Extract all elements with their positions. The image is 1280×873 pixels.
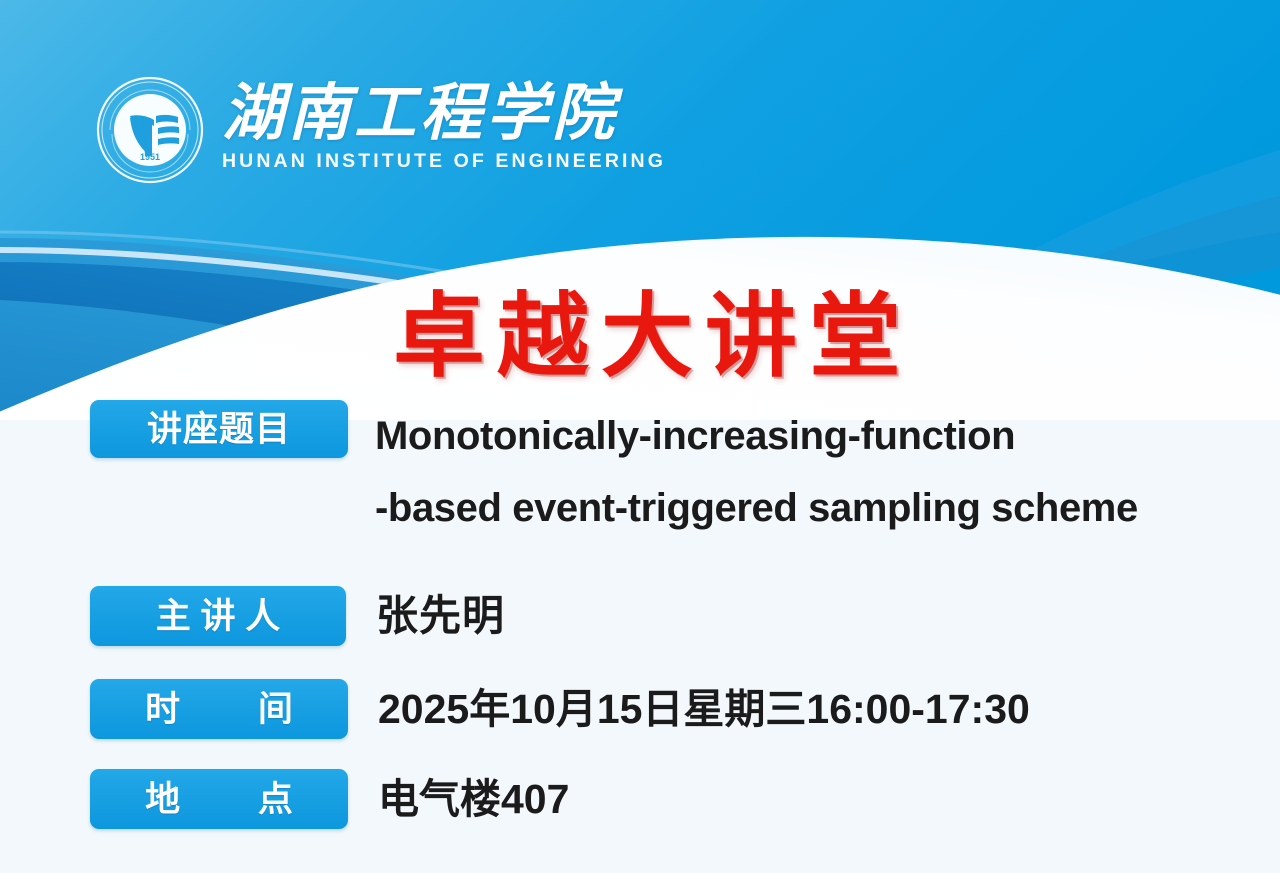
lecture-title-line2: -based event-triggered sampling scheme <box>375 472 1138 544</box>
university-logo-block: 1951 湖南工程学院 HUNAN INSTITUTE OF ENGINEERI… <box>96 76 666 184</box>
place-value: 电气楼407 <box>378 769 569 829</box>
row-place: 地 点 电气楼407 <box>90 769 569 829</box>
university-name-en: HUNAN INSTITUTE OF ENGINEERING <box>222 150 666 173</box>
badge-place: 地 点 <box>90 769 348 829</box>
badge-lecture-title: 讲座题目 <box>90 400 348 458</box>
badge-speaker: 主 讲 人 <box>90 586 346 646</box>
badge-time: 时 间 <box>90 679 348 739</box>
lecture-poster: 1951 湖南工程学院 HUNAN INSTITUTE OF ENGINEERI… <box>0 0 1280 873</box>
speaker-value: 张先明 <box>376 586 505 646</box>
row-speaker: 主 讲 人 张先明 <box>90 586 505 646</box>
university-seal-icon: 1951 <box>96 76 204 184</box>
seal-year-text: 1951 <box>140 152 160 162</box>
row-lecture-title: 讲座题目 Monotonically-increasing-function -… <box>90 400 1138 544</box>
university-name-cn: 湖南工程学院 <box>222 83 666 146</box>
lecture-title-value: Monotonically-increasing-function -based… <box>375 400 1138 544</box>
lecture-title-line1: Monotonically-increasing-function <box>375 414 1015 458</box>
row-time: 时 间 2025年10月15日星期三16:00-17:30 <box>90 679 1030 739</box>
time-value: 2025年10月15日星期三16:00-17:30 <box>378 679 1030 739</box>
